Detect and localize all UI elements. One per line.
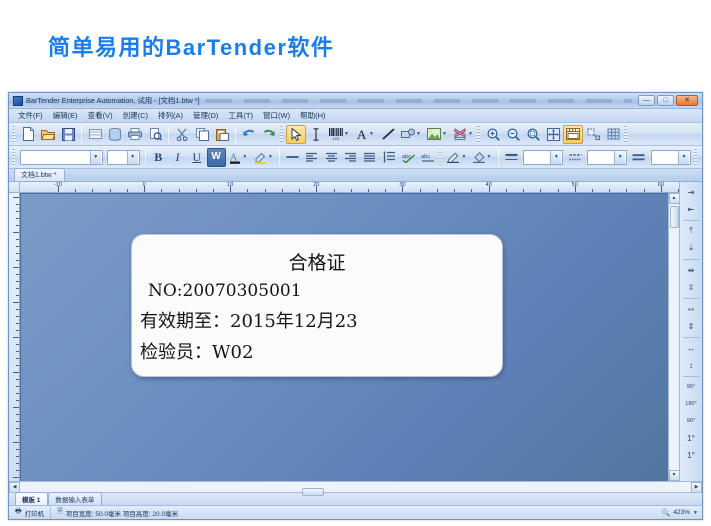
design-canvas[interactable]: 合格证 NO:20070305001 有效期至：2015年12月23 检验员：W… bbox=[20, 193, 668, 481]
pen-color-button[interactable]: ▼ bbox=[444, 148, 469, 167]
ruler-tick bbox=[16, 309, 19, 310]
redo-icon[interactable] bbox=[259, 125, 279, 144]
ruler-minor-tick bbox=[161, 189, 162, 192]
align-justify-icon[interactable] bbox=[360, 148, 379, 167]
text-tool-icon[interactable] bbox=[306, 125, 326, 144]
rotate-left-1-icon[interactable]: 1° bbox=[682, 430, 701, 446]
ruler-minor-tick bbox=[110, 189, 111, 192]
save-document-icon[interactable] bbox=[58, 125, 78, 144]
chevron-down-icon[interactable]: ▼ bbox=[268, 155, 273, 160]
menu-item-view[interactable]: 查看(V) bbox=[83, 110, 118, 121]
scroll-right-button[interactable]: ▶ bbox=[691, 482, 702, 493]
scroll-up-button[interactable]: ▲ bbox=[669, 193, 680, 204]
sheet-tab-data-entry-form[interactable]: 数据输入表单 bbox=[48, 492, 102, 505]
scroll-down-button[interactable]: ▼ bbox=[669, 470, 680, 481]
ruler-tick bbox=[13, 477, 19, 478]
zoom-icon: 🔍 bbox=[662, 509, 671, 517]
toolbar-separator bbox=[168, 126, 169, 143]
new-document-icon[interactable] bbox=[18, 125, 38, 144]
menu-item-window[interactable]: 窗口(W) bbox=[258, 110, 295, 121]
ruler-tick-label: 50 bbox=[572, 182, 578, 188]
ruler-minor-tick bbox=[471, 189, 472, 192]
ruler-tick bbox=[16, 316, 19, 317]
close-button[interactable]: ✕ bbox=[676, 95, 698, 106]
toolbar-separator bbox=[279, 149, 280, 166]
page-setup-icon[interactable] bbox=[85, 125, 105, 144]
ruler-tick bbox=[16, 449, 19, 450]
main-toolbar: 123 ▼ A ▼ ▼ ▼ ▼ bbox=[9, 123, 702, 146]
ruler-tick bbox=[16, 295, 19, 296]
title-bar-filler bbox=[206, 99, 632, 103]
horizontal-ruler-track: -100102030405060 bbox=[20, 182, 679, 192]
chevron-down-icon[interactable]: ▼ bbox=[90, 151, 101, 164]
chevron-down-icon[interactable]: ▼ bbox=[614, 151, 625, 164]
center-horizontally-icon[interactable]: ⇹ bbox=[682, 262, 701, 278]
ruler-minor-tick bbox=[75, 189, 76, 192]
ruler-tick bbox=[13, 372, 19, 373]
snap-to-grid-icon[interactable] bbox=[583, 125, 603, 144]
ruler-tick bbox=[16, 358, 19, 359]
picture-tool-icon[interactable]: ▼ bbox=[424, 125, 450, 144]
horizontal-scroll-thumb[interactable] bbox=[302, 488, 324, 496]
align-objects-top-icon[interactable]: ⤒ bbox=[682, 223, 701, 239]
bold-button[interactable]: B bbox=[149, 148, 168, 167]
line-tool-icon[interactable] bbox=[378, 125, 398, 144]
border-style-combo[interactable]: ▼ bbox=[587, 150, 628, 165]
italic-button[interactable]: I bbox=[168, 148, 187, 167]
word-wrap-button[interactable]: W bbox=[207, 148, 226, 167]
chevron-down-icon[interactable]: ▼ bbox=[369, 132, 374, 137]
select-tool-icon[interactable] bbox=[286, 125, 306, 144]
toolbar-grip[interactable] bbox=[477, 126, 480, 143]
menu-item-help[interactable]: 帮助(H) bbox=[295, 110, 330, 121]
ribbon-tool-icon[interactable]: ▼ bbox=[450, 125, 476, 144]
align-right-icon[interactable] bbox=[341, 148, 360, 167]
ruler-minor-tick bbox=[196, 189, 197, 192]
svg-text:A: A bbox=[357, 128, 367, 140]
fit-to-window-icon[interactable] bbox=[543, 125, 563, 144]
status-size-cell: 🗎 项目宽度: 50.0毫米 项目高度: 20.0毫米 bbox=[51, 507, 184, 519]
toolbar-separator bbox=[683, 298, 700, 299]
status-printer-label: 打印机 bbox=[25, 508, 45, 518]
label-number-text[interactable]: NO:20070305001 bbox=[148, 281, 502, 301]
undo-icon[interactable] bbox=[239, 125, 259, 144]
toolbar-grip[interactable] bbox=[439, 149, 442, 166]
print-icon[interactable] bbox=[125, 125, 145, 144]
toolbar-separator bbox=[683, 220, 700, 221]
character-spacing-icon[interactable]: abc bbox=[418, 148, 437, 167]
line-spacing-icon[interactable] bbox=[380, 148, 399, 167]
chevron-down-icon[interactable]: ▼ bbox=[442, 132, 447, 137]
canvas-row: 合格证 NO:20070305001 有效期至：2015年12月23 检验员：W… bbox=[9, 193, 679, 481]
scroll-left-button[interactable]: ◀ bbox=[9, 482, 20, 493]
ruler-minor-tick bbox=[282, 189, 283, 192]
print-preview-icon[interactable] bbox=[145, 125, 165, 144]
document-tab-strip: 文档1.btw * bbox=[9, 169, 702, 182]
ruler-tick bbox=[13, 337, 19, 338]
zoom-in-icon[interactable] bbox=[483, 125, 503, 144]
ruler-tick bbox=[16, 463, 19, 464]
spell-check-icon[interactable]: abc bbox=[399, 148, 418, 167]
rotate-180-icon[interactable]: 180° bbox=[682, 396, 701, 412]
ruler-minor-tick bbox=[299, 189, 300, 192]
ruler-tick bbox=[16, 218, 19, 219]
toolbar-separator bbox=[498, 149, 499, 166]
ruler-minor-tick bbox=[558, 189, 559, 192]
label-expiry-text[interactable]: 有效期至：2015年12月23 bbox=[140, 307, 502, 333]
effect-combo[interactable]: ▼ bbox=[651, 150, 692, 165]
printer-icon: 🖶 bbox=[15, 507, 22, 518]
menu-bar: 文件(F) 编辑(E) 查看(V) 创建(C) 排列(A) 管理(D) 工具(T… bbox=[9, 109, 702, 123]
chevron-down-icon[interactable]: ▼ bbox=[693, 510, 698, 516]
fill-color-button[interactable]: ▼ bbox=[469, 148, 494, 167]
shadow-style-icon[interactable] bbox=[629, 148, 648, 167]
align-objects-right-icon[interactable]: ⇤ bbox=[682, 201, 701, 217]
toolbar-grip[interactable] bbox=[624, 126, 627, 143]
sheet-tab-strip: 模板 1 数据输入表单 bbox=[9, 492, 702, 505]
ruler-tick bbox=[13, 442, 19, 443]
toolbar-separator bbox=[235, 126, 236, 143]
document-tab[interactable]: 文档1.btw * bbox=[14, 168, 65, 181]
ruler-tick bbox=[16, 435, 19, 436]
document-icon: 🗎 bbox=[57, 507, 63, 518]
show-grid-icon[interactable] bbox=[603, 125, 623, 144]
ruler-tick bbox=[16, 400, 19, 401]
ruler-tick bbox=[16, 288, 19, 289]
menu-item-arrange[interactable]: 排列(A) bbox=[153, 110, 188, 121]
application-icon bbox=[13, 96, 23, 106]
ruler-minor-tick bbox=[213, 189, 214, 192]
zoom-level-value: 423% bbox=[673, 509, 690, 516]
ruler-minor-tick bbox=[247, 189, 248, 192]
ruler-tick-label: 10 bbox=[227, 182, 233, 188]
ruler-tick bbox=[16, 456, 19, 457]
ruler-tick bbox=[16, 225, 19, 226]
ruler-corner bbox=[9, 182, 20, 193]
menu-item-edit[interactable]: 编辑(E) bbox=[48, 110, 83, 121]
toolbar-grip[interactable] bbox=[280, 126, 283, 143]
toolbar-separator bbox=[683, 376, 700, 377]
chevron-down-icon[interactable]: ▼ bbox=[127, 151, 138, 164]
ruler-tick bbox=[16, 386, 19, 387]
border-style-icon[interactable] bbox=[502, 148, 521, 167]
ruler-tick bbox=[16, 211, 19, 212]
ruler-tick bbox=[16, 323, 19, 324]
status-bar: 🖶 打印机 🗎 项目宽度: 50.0毫米 项目高度: 20.0毫米 🔍 423%… bbox=[9, 505, 702, 519]
ruler-tick bbox=[16, 260, 19, 261]
minimize-button[interactable]: — bbox=[638, 95, 655, 106]
highlight-color-button[interactable]: ▼ bbox=[251, 148, 276, 167]
show-rulers-icon[interactable] bbox=[563, 125, 583, 144]
ruler-minor-tick bbox=[644, 189, 645, 192]
ruler-tick bbox=[13, 302, 19, 303]
line-style-icon[interactable] bbox=[283, 148, 302, 167]
chevron-down-icon[interactable]: ▼ bbox=[487, 155, 492, 160]
ruler-tick bbox=[16, 379, 19, 380]
application-window: BarTender Enterprise Automation, 试用 - [文… bbox=[8, 92, 703, 520]
toolbar-grip[interactable] bbox=[12, 149, 15, 166]
toolbar-separator bbox=[81, 126, 82, 143]
ruler-tick bbox=[13, 232, 19, 233]
toolbar-grip[interactable] bbox=[12, 126, 15, 143]
ruler-tick bbox=[16, 421, 19, 422]
database-setup-icon[interactable] bbox=[105, 125, 125, 144]
ruler-minor-tick bbox=[368, 189, 369, 192]
border-width-combo[interactable]: ▼ bbox=[523, 150, 564, 165]
align-left-icon[interactable] bbox=[302, 148, 321, 167]
vertical-ruler[interactable] bbox=[9, 193, 20, 481]
horizontal-scrollbar[interactable]: ◀ ▶ bbox=[9, 481, 702, 492]
ruler-minor-tick bbox=[678, 189, 679, 192]
chevron-down-icon[interactable]: ▼ bbox=[344, 132, 349, 137]
rotate-right-90-icon[interactable]: 90° bbox=[682, 413, 701, 429]
svg-text:abc: abc bbox=[421, 154, 430, 160]
label-title-text[interactable]: 合格证 bbox=[132, 248, 502, 275]
rotate-right-1-icon[interactable]: 1° bbox=[682, 447, 701, 463]
ruler-minor-tick bbox=[437, 189, 438, 192]
ruler-minor-tick bbox=[626, 189, 627, 192]
ruler-tick bbox=[16, 351, 19, 352]
ruler-minor-tick bbox=[334, 189, 335, 192]
chevron-down-icon[interactable]: ▼ bbox=[468, 132, 473, 137]
ruler-tick-label: 30 bbox=[399, 182, 405, 188]
ruler-minor-tick bbox=[540, 189, 541, 192]
ruler-tick-label: -10 bbox=[54, 182, 62, 188]
menu-item-create[interactable]: 创建(C) bbox=[118, 110, 153, 121]
ruler-tick bbox=[16, 344, 19, 345]
ruler-minor-tick bbox=[265, 189, 266, 192]
ruler-tick bbox=[13, 267, 19, 268]
ruler-minor-tick bbox=[523, 189, 524, 192]
same-width-icon[interactable]: ↔ bbox=[682, 340, 701, 356]
workspace-left: -100102030405060 合格证 NO:20070305001 有效期至… bbox=[9, 182, 679, 481]
ruler-minor-tick bbox=[127, 189, 128, 192]
arrange-toolbar: ⇥⇤⤒⤓⇹⇳⇿⇕↔↕90°180°90°1°1° bbox=[679, 182, 702, 481]
ruler-tick bbox=[13, 197, 19, 198]
border-dash-icon[interactable] bbox=[565, 148, 584, 167]
ruler-tick bbox=[16, 239, 19, 240]
font-size-combo[interactable]: ▼ bbox=[107, 150, 140, 165]
shape-tool-icon[interactable]: ▼ bbox=[398, 125, 424, 144]
toolbar-separator bbox=[683, 259, 700, 260]
same-height-icon[interactable]: ↕ bbox=[682, 357, 701, 373]
ruler-tick bbox=[16, 281, 19, 282]
toolbar-grip[interactable] bbox=[694, 149, 697, 166]
label-inspector-text[interactable]: 检验员：W02 bbox=[140, 338, 502, 364]
ruler-tick bbox=[16, 365, 19, 366]
open-document-icon[interactable] bbox=[38, 125, 58, 144]
underline-button[interactable]: U bbox=[187, 148, 206, 167]
title-bar: BarTender Enterprise Automation, 试用 - [文… bbox=[9, 93, 702, 109]
distribute-vertically-icon[interactable]: ⇕ bbox=[682, 318, 701, 334]
label-object[interactable]: 合格证 NO:20070305001 有效期至：2015年12月23 检验员：W… bbox=[131, 234, 503, 377]
zoom-control[interactable]: 🔍 423% ▼ bbox=[658, 509, 702, 517]
ruler-tick bbox=[16, 204, 19, 205]
ruler-minor-tick bbox=[92, 189, 93, 192]
ruler-minor-tick bbox=[592, 189, 593, 192]
cut-icon[interactable] bbox=[172, 125, 192, 144]
chevron-down-icon[interactable]: ▼ bbox=[461, 155, 466, 160]
window-title: BarTender Enterprise Automation, 试用 - [文… bbox=[26, 95, 200, 106]
center-vertically-icon[interactable]: ⇳ bbox=[682, 279, 701, 295]
window-controls: — □ ✕ bbox=[638, 95, 700, 106]
zoom-selection-icon[interactable] bbox=[523, 125, 543, 144]
ruler-minor-tick bbox=[179, 189, 180, 192]
sheet-tab-template[interactable]: 模板 1 bbox=[15, 492, 48, 505]
chevron-down-icon[interactable]: ▼ bbox=[242, 155, 247, 160]
font-name-combo[interactable]: ▼ bbox=[20, 150, 103, 165]
ruler-tick bbox=[13, 407, 19, 408]
chevron-down-icon[interactable]: ▼ bbox=[416, 132, 421, 137]
ruler-tick bbox=[16, 393, 19, 394]
status-item-size: 项目宽度: 50.0毫米 项目高度: 20.0毫米 bbox=[66, 508, 178, 518]
zoom-out-icon[interactable] bbox=[503, 125, 523, 144]
ruler-tick-label: 0 bbox=[143, 182, 146, 188]
workspace: -100102030405060 合格证 NO:20070305001 有效期至… bbox=[9, 182, 702, 481]
horizontal-ruler[interactable]: -100102030405060 bbox=[9, 182, 679, 193]
text-object-icon[interactable]: A ▼ bbox=[352, 125, 378, 144]
ruler-minor-tick bbox=[385, 189, 386, 192]
chevron-down-icon[interactable]: ▼ bbox=[678, 151, 689, 164]
ruler-tick bbox=[16, 246, 19, 247]
copy-icon[interactable] bbox=[192, 125, 212, 144]
ruler-minor-tick bbox=[609, 189, 610, 192]
maximize-button[interactable]: □ bbox=[657, 95, 674, 106]
menu-item-file[interactable]: 文件(F) bbox=[13, 110, 48, 121]
ruler-tick bbox=[16, 274, 19, 275]
status-printer-cell[interactable]: 🖶 打印机 bbox=[9, 507, 51, 519]
ruler-tick-label: 20 bbox=[313, 182, 319, 188]
chevron-down-icon[interactable]: ▼ bbox=[550, 151, 561, 164]
ruler-tick bbox=[16, 330, 19, 331]
svg-text:123: 123 bbox=[333, 136, 340, 140]
ruler-minor-tick bbox=[506, 189, 507, 192]
toolbar-separator bbox=[683, 337, 700, 338]
barcode-tool-icon[interactable]: 123 ▼ bbox=[326, 125, 352, 144]
ruler-tick bbox=[16, 253, 19, 254]
toolbar-separator bbox=[145, 149, 146, 166]
ruler-minor-tick bbox=[454, 189, 455, 192]
page-title: 简单易用的BarTender软件 bbox=[48, 30, 334, 62]
ruler-minor-tick bbox=[351, 189, 352, 192]
rotate-left-90-icon[interactable]: 90° bbox=[682, 379, 701, 395]
distribute-horizontally-icon[interactable]: ⇿ bbox=[682, 301, 701, 317]
ruler-tick bbox=[16, 428, 19, 429]
vertical-scrollbar[interactable]: ▲ ▼ bbox=[668, 193, 679, 481]
menu-item-administer[interactable]: 管理(D) bbox=[188, 110, 223, 121]
ruler-tick bbox=[16, 470, 19, 471]
menu-item-tools[interactable]: 工具(T) bbox=[223, 110, 258, 121]
align-center-icon[interactable] bbox=[322, 148, 341, 167]
vertical-scroll-thumb[interactable] bbox=[670, 206, 679, 228]
ruler-minor-tick bbox=[420, 189, 421, 192]
format-toolbar: ▼ ▼ B I U W A ▼ ▼ bbox=[9, 146, 702, 169]
ruler-tick bbox=[16, 414, 19, 415]
align-objects-bottom-icon[interactable]: ⤓ bbox=[682, 240, 701, 256]
font-color-button[interactable]: A ▼ bbox=[226, 148, 251, 167]
paste-icon[interactable] bbox=[212, 125, 232, 144]
ruler-tick-label: 60 bbox=[658, 182, 664, 188]
ruler-tick-label: 40 bbox=[486, 182, 492, 188]
align-objects-left-icon[interactable]: ⇥ bbox=[682, 184, 701, 200]
